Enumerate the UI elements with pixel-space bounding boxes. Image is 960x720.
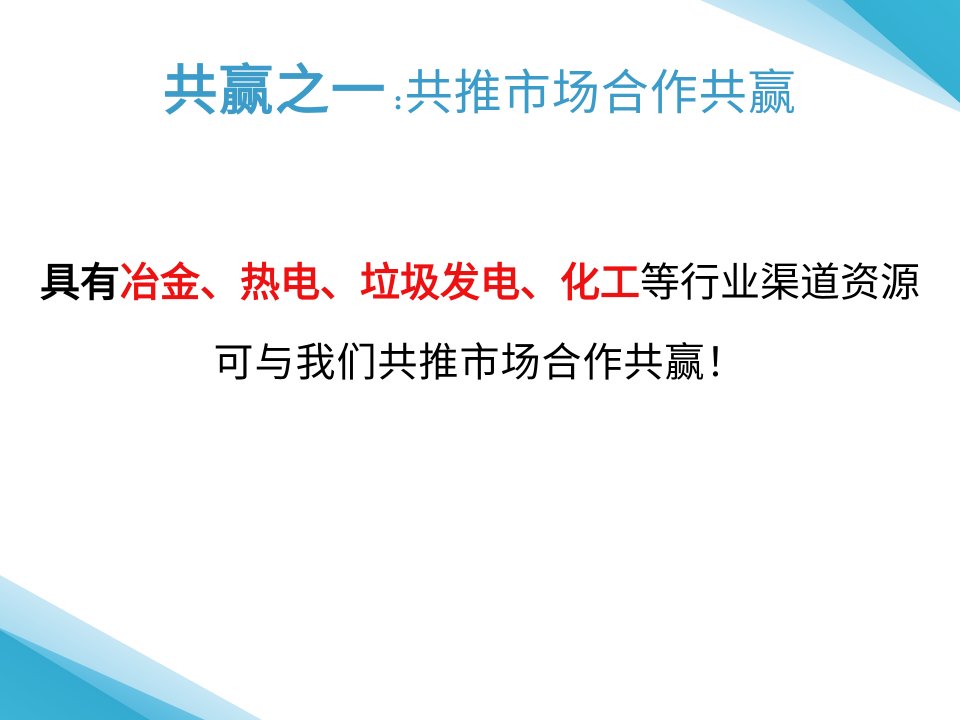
title-main-text: 共赢之一 <box>163 58 387 122</box>
bottom-left-light-band-icon <box>0 575 262 720</box>
title-separator: : <box>387 86 405 116</box>
slide-title: 共赢之一:共推市场合作共赢 <box>0 63 960 117</box>
bottom-left-teal-triangle-icon <box>0 630 150 720</box>
title-sub-text: 共推市场合作共赢 <box>405 65 797 121</box>
body-line-1-segment-tail: 等行业渠道资源 <box>640 260 920 306</box>
body-line-2: 可与我们共推市场合作共赢！ <box>0 323 960 403</box>
slide-body: 具有冶金、热电、垃圾发电、化工等行业渠道资源 可与我们共推市场合作共赢！ <box>0 243 960 403</box>
body-line-1-segment-lead: 具有 <box>40 260 120 306</box>
bottom-left-mid-band-icon <box>0 628 205 720</box>
body-line-1-segment-highlight: 冶金、热电、垃圾发电、化工 <box>120 260 640 306</box>
body-line-2-segment-main: 可与我们共推市场合作共赢！ <box>214 340 747 386</box>
body-line-1: 具有冶金、热电、垃圾发电、化工等行业渠道资源 <box>0 243 960 323</box>
slide-canvas: 共赢之一:共推市场合作共赢 具有冶金、热电、垃圾发电、化工等行业渠道资源 可与我… <box>0 0 960 720</box>
